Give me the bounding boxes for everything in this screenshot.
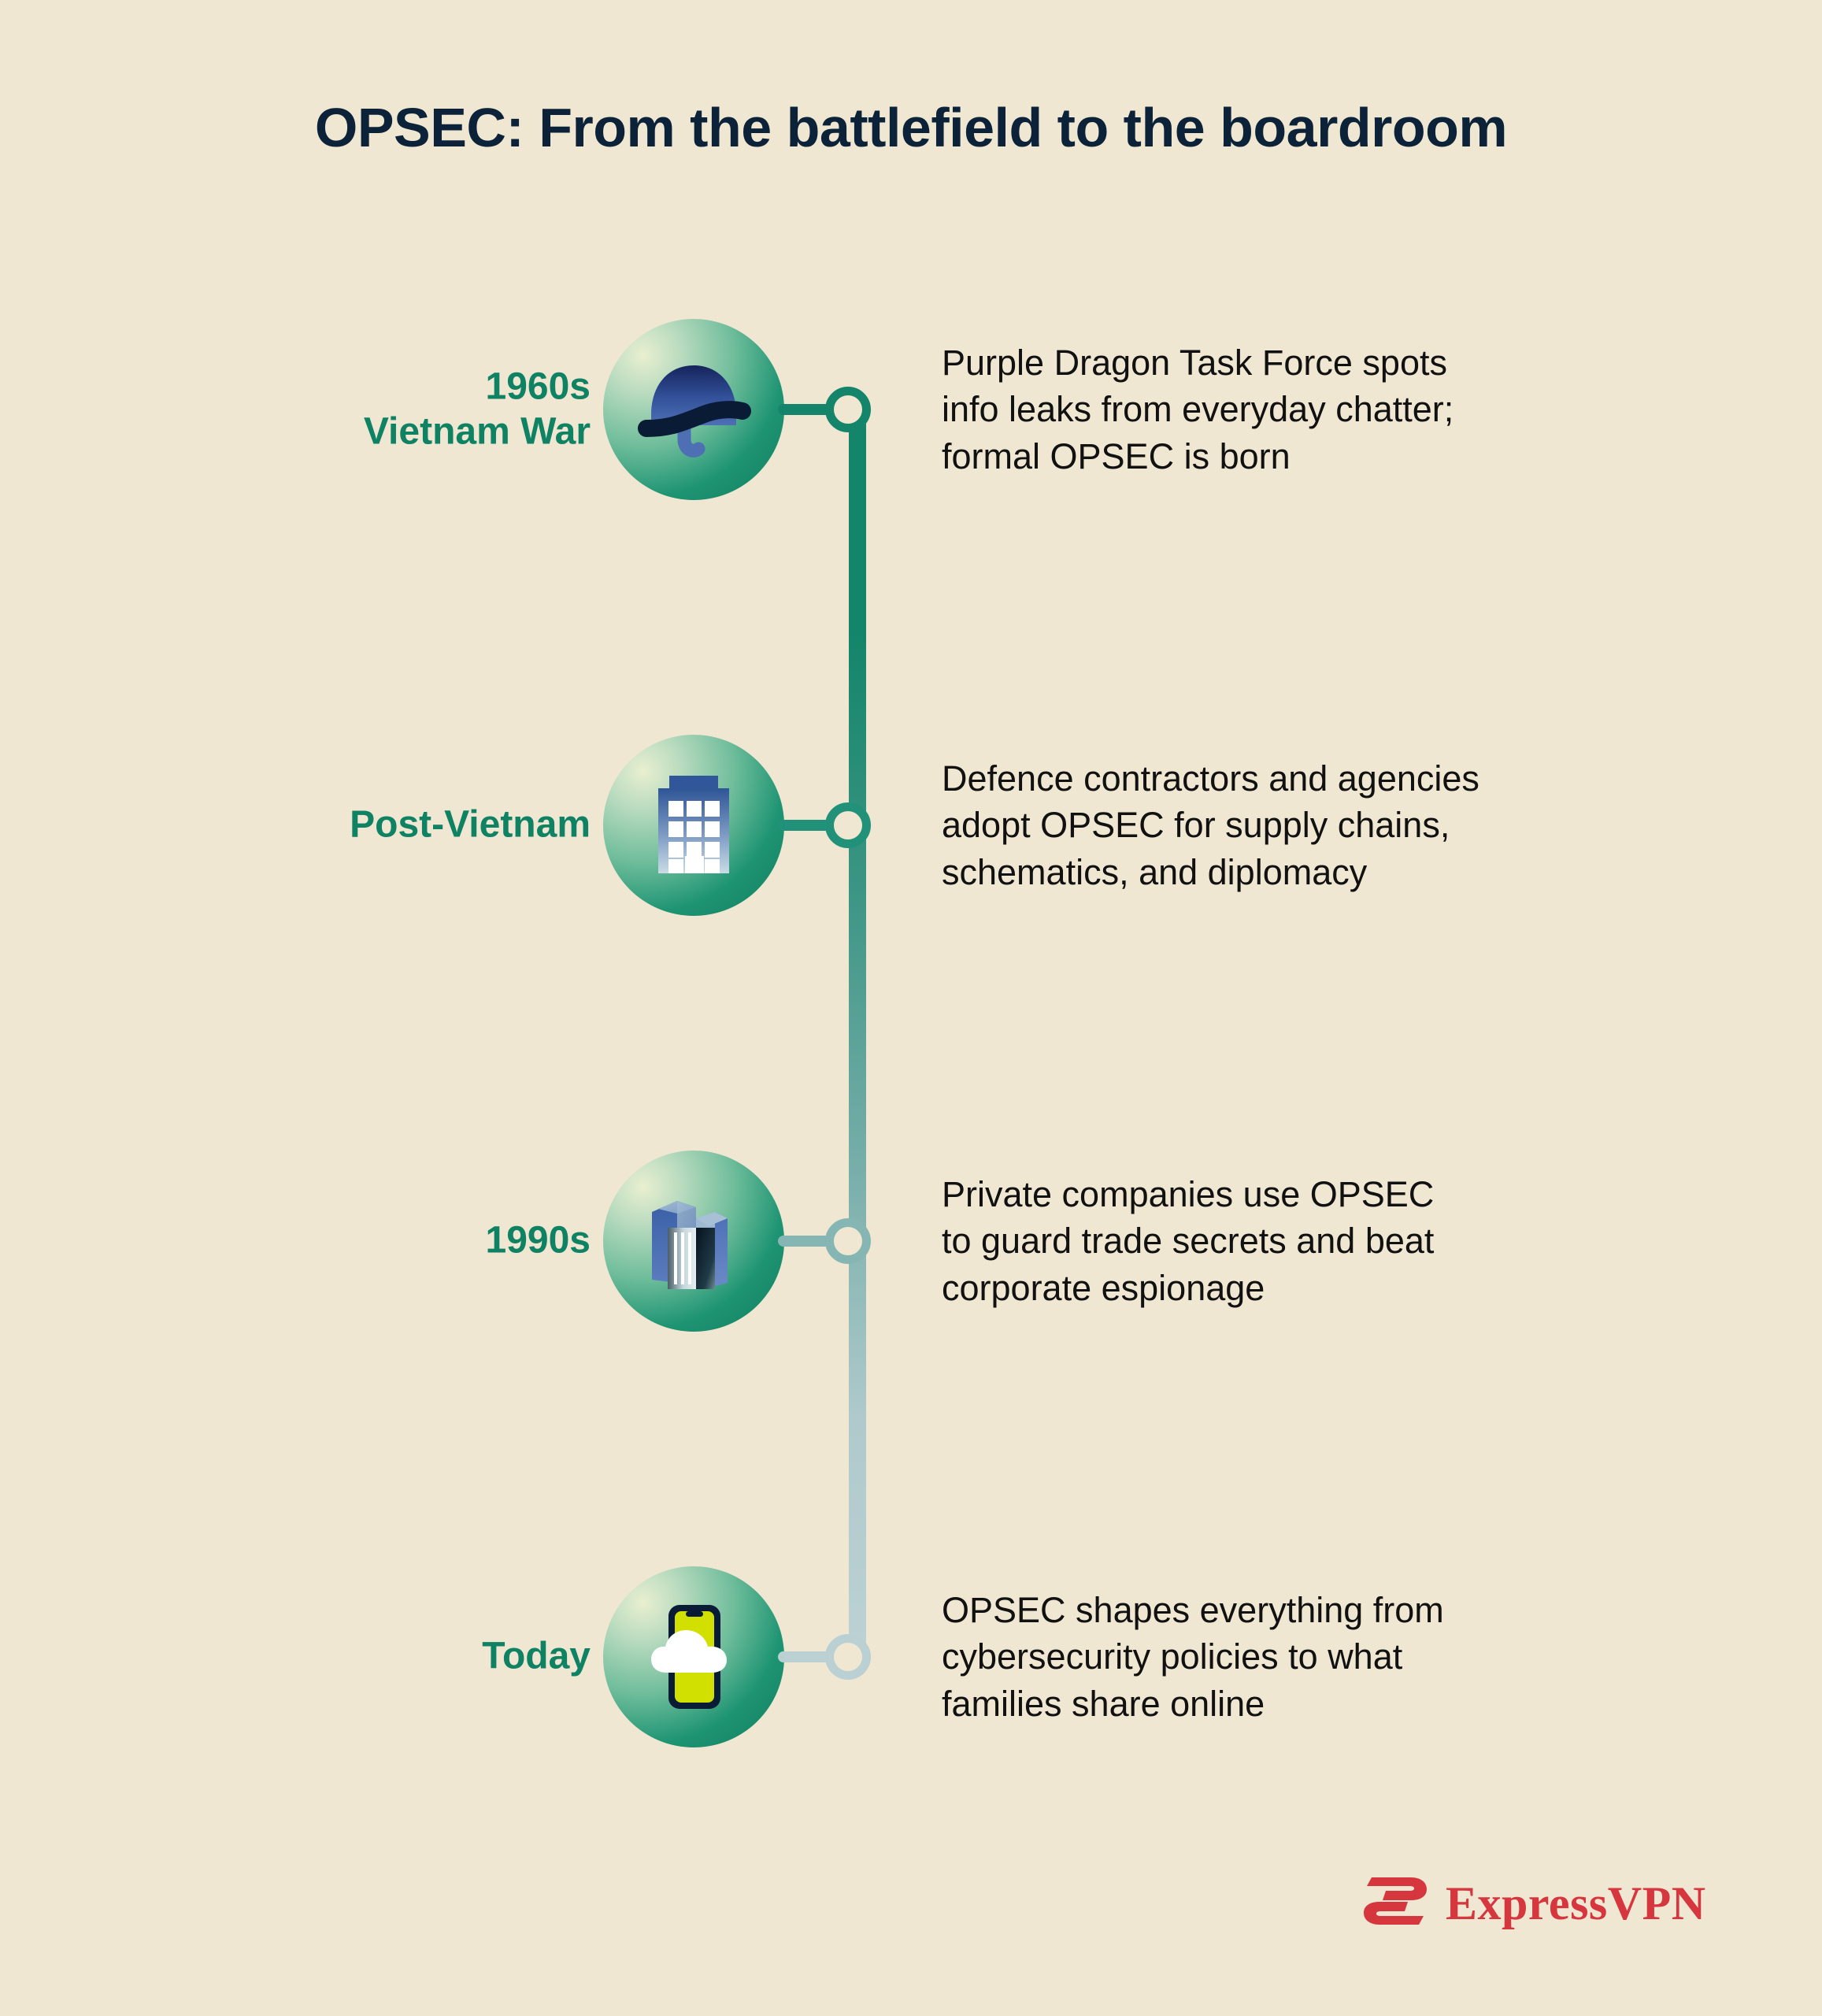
timeline-node[interactable]	[825, 387, 871, 432]
timeline-era-label: Today	[102, 1635, 591, 1680]
timeline-description: Purple Dragon Task Force spots info leak…	[942, 339, 1666, 480]
timeline-node[interactable]	[825, 1218, 871, 1264]
timeline-node[interactable]	[825, 1634, 871, 1680]
timeline-icon-bubble	[603, 735, 784, 916]
page-title: OPSEC: From the battlefield to the board…	[0, 99, 1822, 157]
timeline-icon-bubble	[603, 1151, 784, 1332]
timeline-description: Private companies use OPSEC to guard tra…	[942, 1171, 1666, 1311]
expressvpn-logo[interactable]: ExpressVPN	[1359, 1873, 1706, 1933]
timeline-description: Defence contractors and agencies adopt O…	[942, 755, 1666, 895]
skyscrapers-icon	[633, 1180, 755, 1303]
office-building-icon	[635, 766, 753, 884]
military-hat-icon	[631, 346, 757, 472]
timeline-era-label: 1960s Vietnam War	[102, 365, 591, 454]
timeline-era-label: Post-Vietnam	[102, 803, 591, 848]
timeline-icon-bubble	[603, 319, 784, 500]
smartphone-cloud-icon	[631, 1594, 757, 1720]
infographic-page: OPSEC: From the battlefield to the board…	[0, 0, 1822, 2016]
expressvpn-wordmark: ExpressVPN	[1446, 1880, 1706, 1927]
expressvpn-e-icon	[1359, 1873, 1431, 1933]
timeline-node[interactable]	[825, 802, 871, 848]
timeline-icon-bubble	[603, 1566, 784, 1747]
timeline-description: OPSEC shapes everything from cybersecuri…	[942, 1587, 1666, 1727]
timeline-spine	[849, 409, 866, 1669]
timeline-era-label: 1990s	[102, 1219, 591, 1264]
